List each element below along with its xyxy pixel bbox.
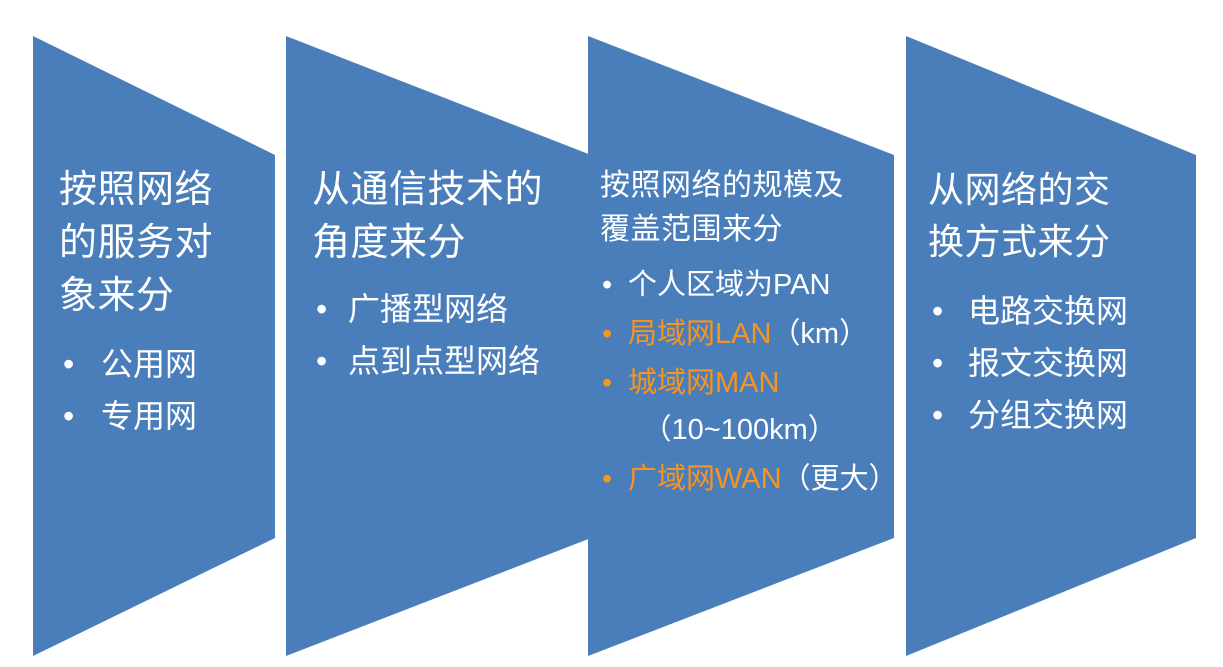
panel-2-title: 从通信技术的 角度来分 bbox=[312, 164, 592, 270]
bullet-dot-icon: • bbox=[602, 360, 612, 407]
bullet-dot-icon: • bbox=[63, 339, 74, 389]
panel-2-bullet-list: • 广播型网络 • 点到点型网络 bbox=[312, 284, 592, 386]
chevron-panel-4[interactable]: 从网络的交 换方式来分 • 电路交换网 • 报文交换网 • 分组交换网 bbox=[906, 36, 1196, 656]
panel-1-content: 按照网络 的服务对 象来分 • 公用网 • 专用网 bbox=[59, 164, 274, 443]
list-item-label-accent: 广域网WAN bbox=[628, 463, 782, 495]
bullet-dot-icon: • bbox=[602, 262, 612, 309]
list-item[interactable]: • 局域网LAN（km） bbox=[600, 311, 898, 358]
panel-3-content: 按照网络的规模及 覆盖范围来分 • 个人区域为PAN • 局域网LAN（km） … bbox=[600, 164, 898, 505]
panel-1-title: 按照网络 的服务对 象来分 bbox=[59, 164, 274, 323]
list-item[interactable]: • 城域网MAN （10~100km） bbox=[600, 360, 898, 454]
list-item-label-accent: 局域网LAN bbox=[628, 318, 771, 350]
panel-3-title: 按照网络的规模及 覆盖范围来分 bbox=[600, 164, 898, 252]
panel-1-bullet-list: • 公用网 • 专用网 bbox=[59, 339, 274, 441]
panel-4-bullet-list: • 电路交换网 • 报文交换网 • 分组交换网 bbox=[928, 286, 1196, 440]
list-item-label-note: （更大） bbox=[782, 463, 898, 495]
list-item-label-accent: 城域网MAN bbox=[628, 367, 779, 399]
list-item[interactable]: • 分组交换网 bbox=[928, 390, 1196, 440]
panel-3-bullet-list: • 个人区域为PAN • 局域网LAN（km） • 城域网MAN （10~100… bbox=[600, 262, 898, 503]
bullet-dot-icon: • bbox=[932, 390, 943, 440]
list-item[interactable]: • 广播型网络 bbox=[312, 284, 592, 334]
list-item-label: 分组交换网 bbox=[968, 397, 1128, 433]
bullet-dot-icon: • bbox=[602, 456, 612, 503]
list-item-label: 点到点型网络 bbox=[348, 343, 540, 379]
bullet-dot-icon: • bbox=[316, 336, 327, 386]
diagram-canvas: 按照网络 的服务对 象来分 • 公用网 • 专用网 从通信技术的 角度来分 • bbox=[0, 0, 1223, 667]
list-item-label-note: （10~100km） bbox=[628, 414, 837, 446]
panel-4-title: 从网络的交 换方式来分 bbox=[928, 164, 1196, 268]
list-item-label: 公用网 bbox=[101, 346, 197, 382]
chevron-panel-3[interactable]: 按照网络的规模及 覆盖范围来分 • 个人区域为PAN • 局域网LAN（km） … bbox=[588, 36, 894, 656]
list-item-label: 报文交换网 bbox=[968, 345, 1128, 381]
list-item-label: 专用网 bbox=[101, 398, 197, 434]
list-item[interactable]: • 公用网 bbox=[59, 339, 274, 389]
panel-4-content: 从网络的交 换方式来分 • 电路交换网 • 报文交换网 • 分组交换网 bbox=[928, 164, 1196, 442]
list-item-label: 个人区域为PAN bbox=[628, 269, 830, 301]
chevron-panel-2[interactable]: 从通信技术的 角度来分 • 广播型网络 • 点到点型网络 bbox=[286, 36, 591, 656]
list-item-label-note: （km） bbox=[771, 318, 868, 350]
list-item-label: 电路交换网 bbox=[968, 293, 1128, 329]
list-item[interactable]: • 广域网WAN（更大） bbox=[600, 456, 898, 503]
list-item[interactable]: • 个人区域为PAN bbox=[600, 262, 898, 309]
list-item[interactable]: • 报文交换网 bbox=[928, 338, 1196, 388]
list-item[interactable]: • 电路交换网 bbox=[928, 286, 1196, 336]
bullet-dot-icon: • bbox=[602, 311, 612, 358]
list-item-label: 广播型网络 bbox=[348, 291, 508, 327]
list-item[interactable]: • 专用网 bbox=[59, 391, 274, 441]
chevron-panel-1[interactable]: 按照网络 的服务对 象来分 • 公用网 • 专用网 bbox=[33, 36, 275, 656]
bullet-dot-icon: • bbox=[932, 338, 943, 388]
bullet-dot-icon: • bbox=[932, 286, 943, 336]
bullet-dot-icon: • bbox=[316, 284, 327, 334]
panel-2-content: 从通信技术的 角度来分 • 广播型网络 • 点到点型网络 bbox=[312, 164, 592, 388]
bullet-dot-icon: • bbox=[63, 391, 74, 441]
list-item[interactable]: • 点到点型网络 bbox=[312, 336, 592, 386]
